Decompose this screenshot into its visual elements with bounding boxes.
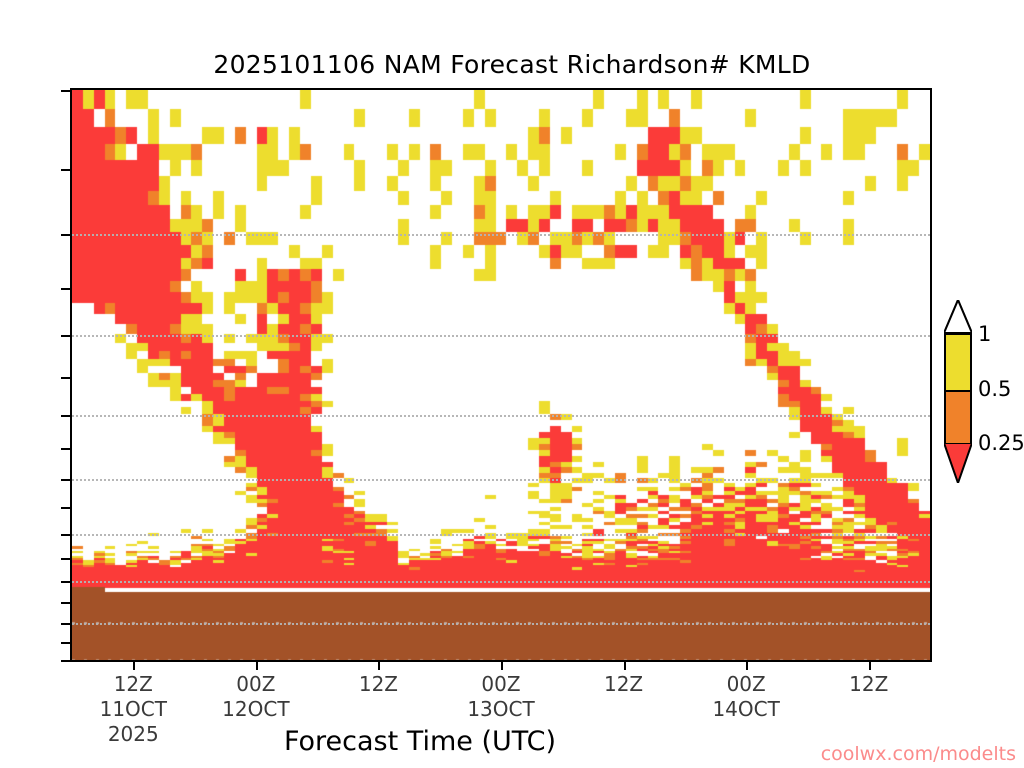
x-tick-label-line: 13OCT — [421, 697, 581, 722]
colorbar-label-0.5: 0.5 — [978, 377, 1011, 401]
x-tick-mark — [501, 662, 503, 670]
y-tick-mark — [61, 415, 70, 417]
y-tick-mark — [61, 479, 70, 481]
y-tick-mark — [61, 90, 70, 92]
x-tick-mark — [133, 662, 135, 670]
y-tick-mark — [61, 234, 70, 236]
x-tick-label: 12Z — [789, 672, 949, 697]
y-tick-mark — [61, 335, 70, 337]
colorbar-body — [944, 333, 972, 443]
x-axis-title: Forecast Time (UTC) — [0, 726, 840, 757]
y-tick-mark — [61, 507, 70, 509]
x-tick-mark — [624, 662, 626, 670]
x-tick-mark — [378, 662, 380, 670]
y-tick-mark — [61, 623, 70, 625]
y-tick-mark — [61, 534, 70, 536]
page-title: 2025101106 NAM Forecast Richardson# KMLD — [0, 50, 1024, 79]
watermark: coolwx.com/modelts — [821, 743, 1016, 765]
x-tick-label-line: 12Z — [789, 672, 949, 697]
y-tick-mark — [61, 660, 70, 662]
colorbar-label-0.25: 0.25 — [978, 431, 1024, 455]
colorbar-arrow-down — [944, 443, 972, 483]
heatmap-canvas — [72, 90, 930, 660]
colorbar-label-1: 1 — [978, 322, 991, 346]
x-tick-label-line: 12OCT — [176, 697, 336, 722]
y-tick-mark — [61, 581, 70, 583]
y-tick-mark — [61, 642, 70, 644]
chart-page: 2025101106 NAM Forecast Richardson# KMLD… — [0, 0, 1024, 768]
y-tick-mark — [61, 558, 70, 560]
y-tick-mark — [61, 448, 70, 450]
y-tick-mark — [61, 169, 70, 171]
x-tick-label-line: 14OCT — [666, 697, 826, 722]
colorbar-legend: 1 0.5 0.25 — [940, 300, 1024, 490]
y-tick-mark — [61, 602, 70, 604]
x-tick-mark — [746, 662, 748, 670]
y-tick-mark — [61, 288, 70, 290]
heatmap-plot-area — [70, 88, 932, 662]
heatmap-cells — [72, 90, 930, 660]
colorbar-segment — [946, 390, 970, 447]
x-tick-mark — [256, 662, 258, 670]
y-tick-mark — [61, 377, 70, 379]
colorbar-segment — [946, 335, 970, 390]
x-tick-mark — [869, 662, 871, 670]
